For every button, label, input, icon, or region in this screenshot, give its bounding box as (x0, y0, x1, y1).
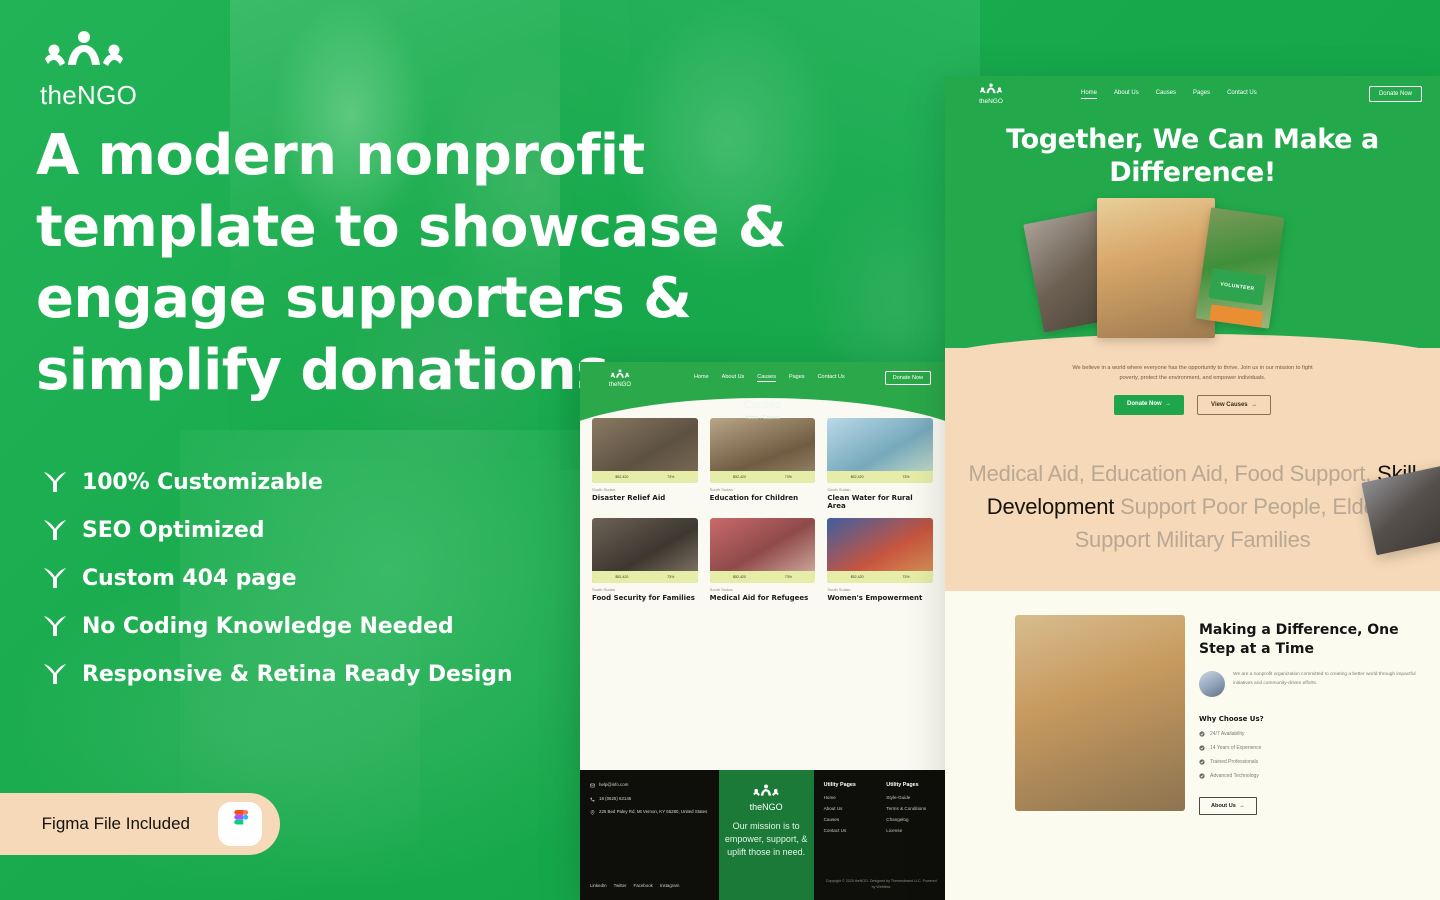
about-heading: Making a Difference, One Step at a Time (1199, 621, 1422, 659)
check-circle-icon (1199, 745, 1205, 751)
cause-stats: $52,420 73% (710, 571, 816, 583)
causes-page-mockup[interactable]: theNGO Home About Us Causes Pages Contac… (580, 362, 945, 900)
causes-footer: help@info.com 18 (0625) 62146 225 Bed Pa… (580, 770, 945, 900)
cause-category: South Sudan (592, 487, 698, 492)
cause-category: South Sudan (827, 487, 933, 492)
cause-image: $52,420 73% (827, 418, 933, 483)
cause-category: South Sudan (827, 587, 933, 592)
check-sprout-icon (40, 661, 70, 687)
cause-stats: $52,420 73% (710, 471, 816, 483)
volunteer-label: VOLUNTEER (1209, 268, 1267, 305)
phone-icon (590, 797, 595, 802)
nav-item-contact[interactable]: Contact Us (1227, 90, 1257, 99)
nav-item-home[interactable]: Home (694, 374, 709, 383)
feature-list: 100% Customizable SEO Optimized Custom 4… (40, 458, 660, 698)
social-link-linkedin[interactable]: LinkedIn (590, 883, 607, 888)
home-services-section: Medical Aid, Education Aid, Food Support… (945, 433, 1440, 591)
cause-donated: $52,420 (733, 475, 746, 479)
avatar (1199, 671, 1225, 697)
donate-now-label: Donate Now (1127, 401, 1162, 407)
nav-item-contact[interactable]: Contact Us (818, 374, 845, 383)
nav-item-causes[interactable]: Causes (1156, 90, 1176, 99)
about-us-label: About Us (1211, 803, 1236, 809)
causes-page-title: Causes (580, 399, 945, 411)
causes-navbar: theNGO Home About Us Causes Pages Contac… (580, 362, 945, 394)
footer-email-row[interactable]: help@info.com (590, 782, 709, 789)
check-sprout-icon (40, 469, 70, 495)
cause-stats: $52,420 73% (827, 471, 933, 483)
volunteer-shirt-badge: VOLUNTEER (1209, 268, 1267, 305)
figma-icon (218, 802, 262, 846)
why-item-label: 14 Years of Experience (1210, 745, 1261, 751)
about-paragraph: We are a nonprofit organization committe… (1233, 671, 1422, 697)
nav-item-causes[interactable]: Causes (757, 374, 776, 383)
figma-included-badge: Figma File Included (0, 793, 280, 855)
cause-donated: $52,420 (733, 575, 746, 579)
footer-column-title: Utility Pages (886, 782, 935, 788)
mail-icon (590, 783, 595, 788)
about-paragraph-row: We are a nonprofit organization committe… (1199, 671, 1422, 697)
why-item-label: Advanced Technology (1210, 773, 1259, 779)
hero-photo-collage: VOLUNTEER (945, 194, 1440, 346)
footer-link[interactable]: Home (824, 795, 873, 800)
cause-image: $52,420 73% (827, 518, 933, 583)
cause-donated: $52,420 (615, 575, 628, 579)
cause-progress: 73% (902, 575, 909, 579)
location-pin-icon (590, 810, 595, 815)
social-link-instagram[interactable]: Instagram (660, 883, 680, 888)
footer-links-columns: Utility Pages Home About Us Causes Conta… (814, 770, 945, 900)
services-text: Medical Aid, Education Aid, Food Support… (967, 457, 1418, 557)
feature-item: Custom 404 page (40, 554, 660, 602)
feature-label: 100% Customizable (82, 470, 323, 495)
cause-donated: $52,420 (615, 475, 628, 479)
cause-card[interactable]: $52,420 73% South Sudan Medical Aid for … (710, 518, 816, 602)
footer-link[interactable]: About Us (824, 806, 873, 811)
cause-image: $52,420 73% (592, 418, 698, 483)
services-text-post: Support Poor People, Elderly Support Mil… (1075, 494, 1399, 552)
social-link-twitter[interactable]: Twitter (614, 883, 627, 888)
home-navbar: theNGO Home About Us Causes Pages Contac… (945, 76, 1440, 112)
check-sprout-icon (40, 517, 70, 543)
feature-label: No Coding Knowledge Needed (82, 614, 454, 639)
footer-mission-column: theNGO Our mission is to empower, suppor… (719, 770, 814, 900)
home-hero-description: We believe in a world where everyone has… (1063, 364, 1323, 384)
check-circle-icon (1199, 759, 1205, 765)
check-sprout-icon (40, 565, 70, 591)
services-text-pre: Medical Aid, Education Aid, Food Support… (969, 461, 1378, 486)
footer-address: 225 Bed Paley Rd, Mt Vernon, KY 65280, U… (599, 809, 707, 816)
nav-item-about[interactable]: About Us (1114, 90, 1139, 99)
view-causes-label: View Causes (1211, 402, 1248, 408)
cause-title: Clean Water for Rural Area (827, 494, 933, 510)
home-logo-text: theNGO (979, 98, 1003, 105)
feature-item: Responsive & Retina Ready Design (40, 650, 660, 698)
why-choose-us-heading: Why Choose Us? (1199, 715, 1422, 723)
causes-logo[interactable]: theNGO (594, 369, 646, 388)
why-item: Advanced Technology (1199, 773, 1422, 779)
home-hero: theNGO Home About Us Causes Pages Contac… (945, 76, 1440, 348)
cause-title: Medical Aid for Refugees (710, 594, 816, 602)
causes-card-grid: $52,420 73% South Sudan Disaster Relief … (592, 418, 933, 602)
cause-card[interactable]: $52,420 73% South Sudan Food Security fo… (592, 518, 698, 602)
home-intro-band: We believe in a world where everyone has… (945, 348, 1440, 433)
cause-category: South Sudan (710, 487, 816, 492)
footer-link[interactable]: Terms & Conditions (886, 806, 935, 811)
cause-card[interactable]: $52,420 73% South Sudan Women's Empowerm… (827, 518, 933, 602)
why-item-label: Trained Professionals (1210, 759, 1258, 765)
why-item: Trained Professionals (1199, 759, 1422, 765)
breadcrumb: Home / Causes (580, 415, 945, 421)
footer-copyright: Copyright © 2025 theNGO. Designed by The… (824, 879, 939, 890)
footer-contact-column: help@info.com 18 (0625) 62146 225 Bed Pa… (580, 770, 719, 900)
footer-mission-text: Our mission is to empower, support, & up… (719, 820, 814, 859)
footer-link[interactable]: Contact Us (824, 828, 873, 833)
cause-image: $52,420 73% (710, 418, 816, 483)
cause-stats: $52,420 73% (827, 571, 933, 583)
about-photo (1015, 615, 1185, 811)
donate-sign (1209, 304, 1264, 328)
home-hero-title: Together, We Can Make a Difference! (945, 124, 1440, 190)
home-cta-row: Donate Now → View Causes → (945, 395, 1440, 415)
cause-card[interactable]: $52,420 73% South Sudan Clean Water for … (827, 418, 933, 510)
ngo-people-logo-icon (38, 30, 130, 78)
check-circle-icon (1199, 731, 1205, 737)
cause-progress: 73% (667, 475, 674, 479)
home-nav-links: Home About Us Causes Pages Contact Us (1081, 90, 1257, 99)
footer-link[interactable]: Causes (824, 817, 873, 822)
cause-title: Disaster Relief Aid (592, 494, 698, 502)
check-circle-icon (1199, 773, 1205, 779)
footer-email: help@info.com (599, 782, 628, 789)
ngo-people-logo-icon (609, 369, 631, 381)
feature-label: Responsive & Retina Ready Design (82, 662, 512, 687)
feature-label: SEO Optimized (82, 518, 264, 543)
feature-item: SEO Optimized (40, 506, 660, 554)
figma-badge-label: Figma File Included (42, 814, 190, 834)
brand-logo: theNGO (38, 30, 137, 111)
causes-donate-button[interactable]: Donate Now (885, 371, 931, 385)
cause-card[interactable]: $52,420 73% South Sudan Education for Ch… (710, 418, 816, 510)
home-logo[interactable]: theNGO (963, 83, 1019, 105)
ngo-people-logo-icon (978, 83, 1004, 97)
nav-item-pages[interactable]: Pages (1193, 90, 1210, 99)
footer-column-title: Utility Pages (824, 782, 873, 788)
footer-phone-row[interactable]: 18 (0625) 62146 (590, 796, 709, 803)
causes-logo-text: theNGO (609, 382, 631, 388)
cause-image: $52,420 73% (592, 518, 698, 583)
cause-category: South Sudan (592, 587, 698, 592)
about-us-button[interactable]: About Us → (1199, 797, 1257, 815)
why-item: 24/7 Availability (1199, 731, 1422, 737)
footer-link[interactable]: License (886, 828, 935, 833)
view-causes-button[interactable]: View Causes → (1197, 395, 1271, 415)
cause-category: South Sudan (710, 587, 816, 592)
footer-brand-name: theNGO (750, 802, 783, 812)
footer-address-row: 225 Bed Paley Rd, Mt Vernon, KY 65280, U… (590, 809, 709, 816)
why-item-label: 24/7 Availability (1210, 731, 1244, 737)
cause-progress: 73% (667, 575, 674, 579)
footer-phone: 18 (0625) 62146 (599, 796, 631, 803)
cause-title: Women's Empowerment (827, 594, 933, 602)
feature-item: 100% Customizable (40, 458, 660, 506)
ngo-people-logo-icon (751, 784, 781, 800)
footer-social-links: LinkedIn Twitter Facebook Instagram (590, 883, 679, 888)
cause-progress: 73% (902, 475, 909, 479)
cause-progress: 73% (785, 475, 792, 479)
footer-link[interactable]: Style-Guide (886, 795, 935, 800)
brand-name: theNGO (40, 80, 137, 111)
footer-link[interactable]: Changelog (886, 817, 935, 822)
why-item: 14 Years of Experience (1199, 745, 1422, 751)
nav-item-home[interactable]: Home (1081, 90, 1097, 99)
cause-title: Education for Children (710, 494, 816, 502)
feature-label: Custom 404 page (82, 566, 296, 591)
cause-donated: $52,420 (851, 475, 864, 479)
nav-item-pages[interactable]: Pages (789, 374, 805, 383)
hero-photo-right: VOLUNTEER (1196, 207, 1285, 328)
about-content: Making a Difference, One Step at a Time … (1185, 615, 1440, 816)
social-link-facebook[interactable]: Facebook (634, 883, 653, 888)
home-page-mockup[interactable]: theNGO Home About Us Causes Pages Contac… (945, 76, 1440, 900)
feature-item: No Coding Knowledge Needed (40, 602, 660, 650)
cause-stats: $52,420 73% (592, 471, 698, 483)
footer-utility-column-two: Utility Pages Style-Guide Terms & Condit… (886, 782, 935, 888)
home-about-section: Making a Difference, One Step at a Time … (945, 591, 1440, 816)
footer-utility-column-one: Utility Pages Home About Us Causes Conta… (824, 782, 873, 888)
donate-now-button[interactable]: Donate Now → (1114, 395, 1184, 415)
cause-donated: $52,420 (851, 575, 864, 579)
cause-card[interactable]: $52,420 73% South Sudan Disaster Relief … (592, 418, 698, 510)
cause-image: $52,420 73% (710, 518, 816, 583)
home-donate-button[interactable]: Donate Now (1369, 86, 1422, 102)
cause-stats: $52,420 73% (592, 571, 698, 583)
nav-item-about[interactable]: About Us (722, 374, 745, 383)
check-sprout-icon (40, 613, 70, 639)
cause-progress: 73% (785, 575, 792, 579)
causes-nav-links: Home About Us Causes Pages Contact Us (694, 374, 845, 383)
cause-title: Food Security for Families (592, 594, 698, 602)
